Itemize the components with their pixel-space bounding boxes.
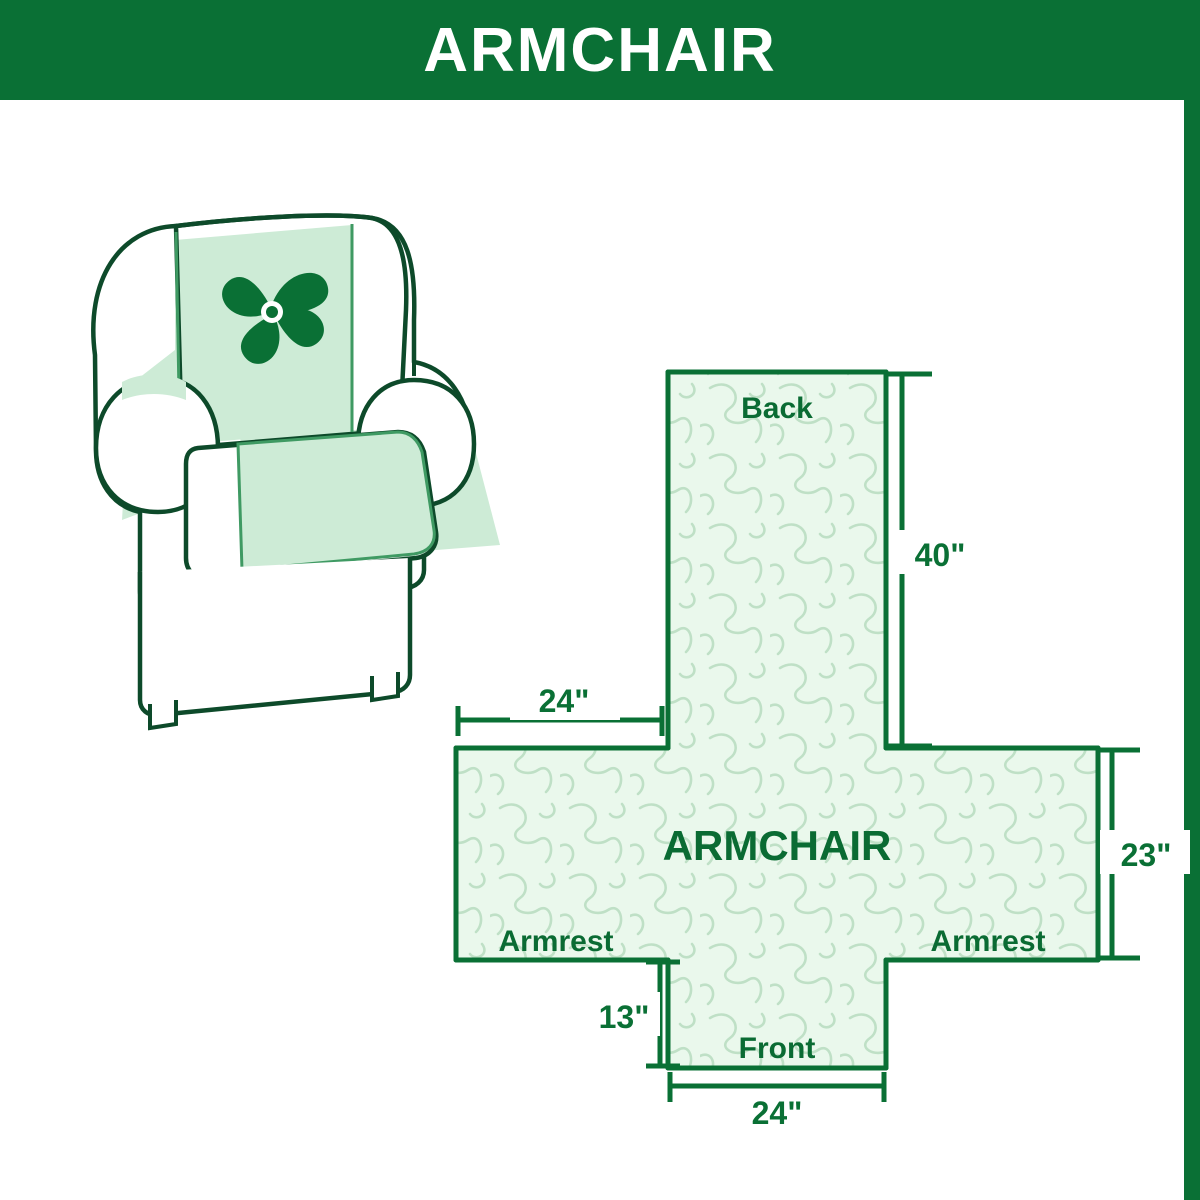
dimension-front-drop: 13" bbox=[580, 960, 680, 1068]
dimension-front-width-label: 24" bbox=[752, 1095, 803, 1131]
page-title: ARMCHAIR bbox=[423, 15, 777, 86]
dimension-front-drop-label: 13" bbox=[599, 999, 650, 1035]
dimension-front-width: 24" bbox=[668, 1072, 886, 1134]
pattern-label-armrest-left: Armrest bbox=[498, 925, 613, 958]
dimension-seat-depth: 23" bbox=[1098, 748, 1190, 960]
diagram-canvas: Back ARMCHAIR Armrest Armrest Front 40" … bbox=[0, 100, 1200, 1200]
pattern-label-armrest-right: Armrest bbox=[930, 925, 1045, 958]
header-bar: ARMCHAIR bbox=[0, 0, 1200, 100]
armchair-cover-pattern: Back ARMCHAIR Armrest Armrest Front 40" … bbox=[456, 372, 1190, 1134]
dimension-back-length-label: 40" bbox=[915, 537, 966, 573]
dimension-back-width-label: 24" bbox=[539, 683, 590, 719]
pattern-label-back: Back bbox=[741, 392, 813, 425]
dimension-back-width: 24" bbox=[456, 680, 664, 736]
armchair-illustration bbox=[93, 216, 500, 728]
pattern-label-front: Front bbox=[739, 1032, 816, 1065]
dimension-seat-depth-label: 23" bbox=[1121, 837, 1172, 873]
dimension-back-length: 40" bbox=[888, 372, 990, 748]
pattern-center-label: ARMCHAIR bbox=[663, 822, 892, 869]
